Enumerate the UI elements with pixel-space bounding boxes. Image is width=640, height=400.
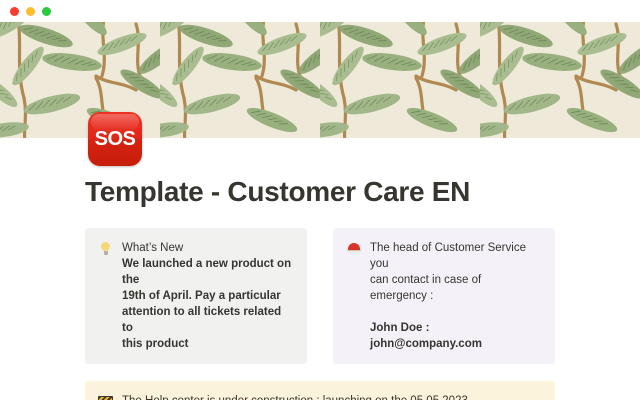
callout-line: The head of Customer Service you (370, 240, 541, 272)
page-content: Template - Customer Care EN What’s New W… (0, 138, 640, 400)
callout-columns: What’s New We launched a new product on … (85, 228, 555, 364)
traffic-light-controls (10, 7, 51, 16)
callout-whats-new[interactable]: What’s New We launched a new product on … (85, 228, 307, 364)
callout-line-spacer (370, 304, 541, 320)
callout-line: What’s New (122, 240, 293, 256)
callout-help-center-notice[interactable]: The Help center is under construction : … (85, 381, 555, 400)
callout-line: 19th of April. Pay a particular (122, 288, 293, 304)
callout-line: this product (122, 336, 293, 352)
close-window-icon[interactable] (10, 7, 19, 16)
callout-line: can contact in case of emergency : (370, 272, 541, 304)
app-window: SOS Template - Customer Care EN What’s N… (0, 0, 640, 400)
maximize-window-icon[interactable] (42, 7, 51, 16)
minimize-window-icon[interactable] (26, 7, 35, 16)
rescue-worker-helmet-icon (345, 240, 362, 257)
callout-emergency-contact-text: The head of Customer Service you can con… (370, 240, 541, 352)
sos-emoji-icon[interactable]: SOS (88, 112, 142, 166)
column-right: The head of Customer Service you can con… (333, 228, 555, 364)
construction-barrier-icon (97, 393, 114, 400)
callout-line: We launched a new product on the (122, 256, 293, 288)
callout-emergency-contact[interactable]: The head of Customer Service you can con… (333, 228, 555, 364)
light-bulb-icon (97, 240, 114, 257)
page-icon[interactable]: SOS (88, 112, 142, 166)
sos-icon-label: SOS (95, 128, 136, 151)
page-title[interactable]: Template - Customer Care EN (85, 138, 555, 209)
callout-contact-line: John Doe : john@company.com (370, 320, 541, 352)
window-titlebar (0, 0, 640, 22)
callout-help-center-text: The Help center is under construction : … (122, 393, 541, 400)
callout-line: attention to all tickets related to (122, 304, 293, 336)
column-left: What’s New We launched a new product on … (85, 228, 307, 364)
callout-whats-new-text: What’s New We launched a new product on … (122, 240, 293, 352)
